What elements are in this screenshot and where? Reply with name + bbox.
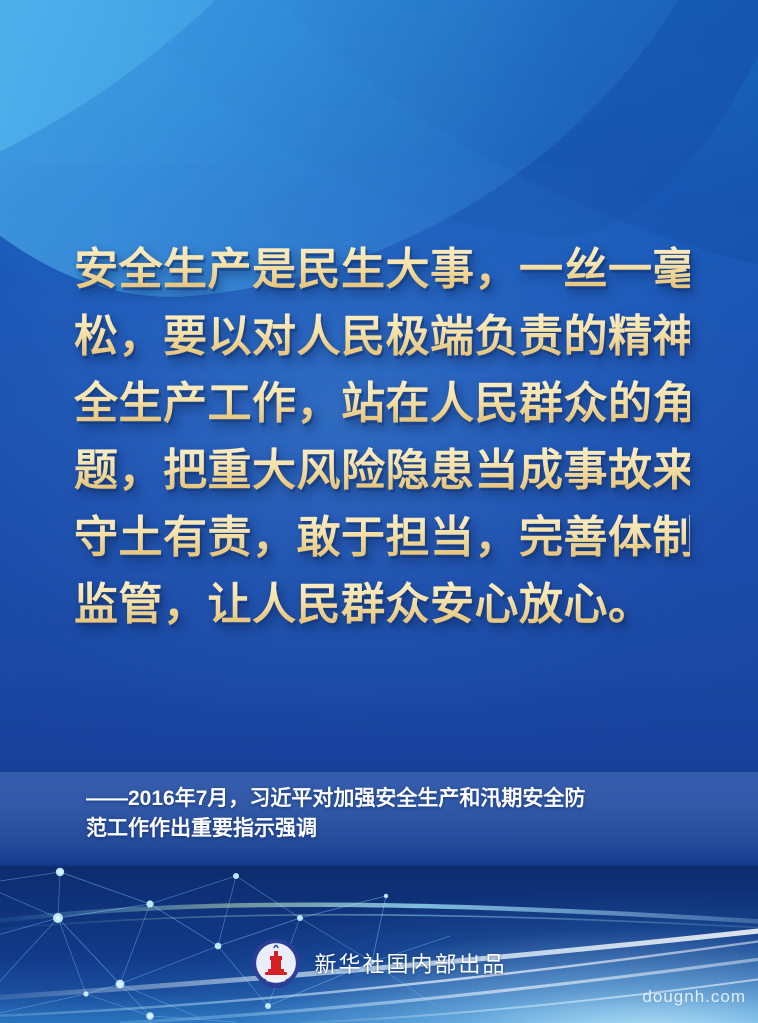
quote-line: 全生产工作，站在人民群众的角度想问 [74,370,690,437]
attribution-line: ——2016年7月，习近平对加强安全生产和汛期安全防 [86,784,698,814]
quote-block: 安全生产是民生大事，一丝一毫不能放 松，要以对人民极端负责的精神抓好安 全生产工… [74,236,690,638]
quote-line: 安全生产是民生大事，一丝一毫不能放 [74,236,690,303]
quote-line: 监管，让人民群众安心放心。 [74,571,690,638]
attribution-block: ——2016年7月，习近平对加强安全生产和汛期安全防 范工作作出重要指示强调 [86,784,698,844]
svg-text:XINHUA: XINHUA [267,978,286,983]
quote-line: 题，把重大风险隐患当成事故来对待， [74,437,690,504]
source-label: 新华社国内部出品 [314,947,506,979]
watermark: dougnh.com [642,987,746,1007]
xinhua-news-agency-logo: XINHUA [251,938,301,988]
attribution-line: 范工作作出重要指示强调 [86,814,698,844]
poster-canvas: 安全生产是民生大事，一丝一毫不能放 松，要以对人民极端负责的精神抓好安 全生产工… [0,0,758,1023]
footer: XINHUA 新华社国内部出品 [0,938,758,988]
ribbon-swoosh-dark-upper [0,0,758,258]
ribbon-swoosh-light-b [0,0,631,235]
quote-line: 松，要以对人民极端负责的精神抓好安 [74,303,690,370]
quote-line: 守土有责，敢于担当，完善体制，严格 [74,504,690,571]
